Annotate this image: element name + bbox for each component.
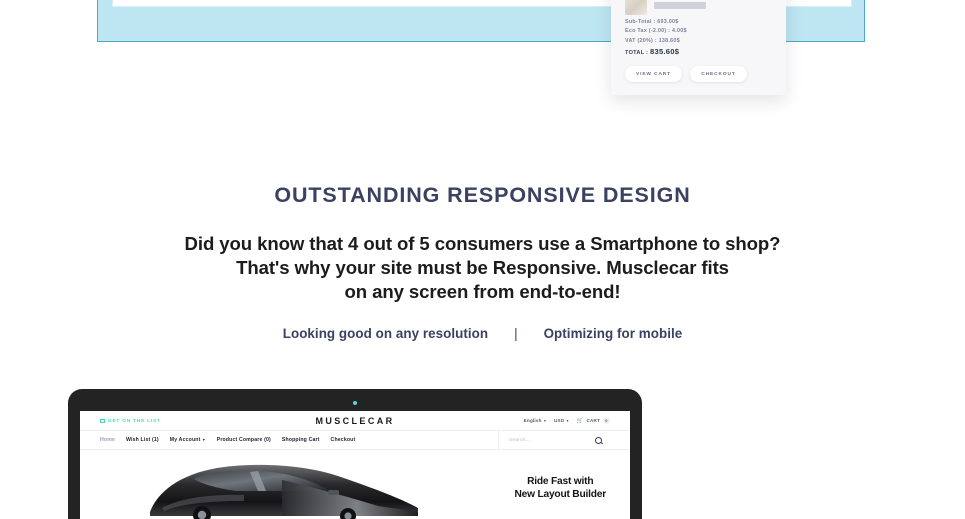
view-cart-button[interactable]: VIEW CART xyxy=(625,66,682,82)
checkout-button[interactable]: CHECKOUT xyxy=(690,66,747,82)
search-icon[interactable] xyxy=(595,437,602,444)
top-section-fragment xyxy=(0,0,965,46)
nav-item-list: Home Wish List (1) My Account▼ Product C… xyxy=(100,437,355,443)
nav-item-home[interactable]: Home xyxy=(100,437,115,443)
cart-grand-total-row: TOTAL : 835.60$ xyxy=(625,47,775,58)
subtitle-line: on any screen from end-to-end! xyxy=(0,280,965,304)
store-utility-bar: GET ON THE LIST MUSCLECAR English▼ USD▼ … xyxy=(80,411,630,430)
muscle-car-image xyxy=(132,456,432,519)
subtitle-line: Did you know that 4 out of 5 consumers u… xyxy=(0,232,965,256)
section-links: Looking good on any resolution | Optimiz… xyxy=(0,326,965,341)
product-thumbnail xyxy=(625,0,647,15)
chevron-down-icon: ▼ xyxy=(202,438,206,442)
links-separator: | xyxy=(514,326,518,341)
cart-total-label: VAT (20%) : xyxy=(625,38,657,44)
section-subtitle: Did you know that 4 out of 5 consumers u… xyxy=(0,232,965,304)
nav-item-product-compare[interactable]: Product Compare (0) xyxy=(217,437,271,443)
cart-actions: VIEW CART CHECKOUT xyxy=(625,66,747,82)
cart-total-amount: 693.00$ xyxy=(657,19,678,25)
link-optimizing-for-mobile[interactable]: Optimizing for mobile xyxy=(544,326,683,341)
hero-headline: Ride Fast with New Layout Builder xyxy=(515,476,607,501)
product-title-placeholder xyxy=(654,2,706,9)
cart-grand-total-label: TOTAL : xyxy=(625,50,648,56)
search-box[interactable]: Search... xyxy=(498,430,610,450)
nav-item-shopping-cart[interactable]: Shopping Cart xyxy=(282,437,320,443)
hero-headline-line: Ride Fast with xyxy=(515,476,607,489)
cart-total-amount: 138.60$ xyxy=(659,38,680,44)
nav-item-checkout[interactable]: Checkout xyxy=(331,437,356,443)
cart-total-row: Eco Tax (-2.00) : 4.00$ xyxy=(625,27,775,36)
laptop-screen: GET ON THE LIST MUSCLECAR English▼ USD▼ … xyxy=(80,411,630,519)
link-looking-good-any-resolution[interactable]: Looking good on any resolution xyxy=(283,326,488,341)
section-title: OUTSTANDING RESPONSIVE DESIGN xyxy=(0,180,965,210)
nav-item-my-account[interactable]: My Account▼ xyxy=(170,437,206,443)
store-hero-banner: Ride Fast with New Layout Builder xyxy=(80,450,630,519)
cart-total-row: VAT (20%) : 138.60$ xyxy=(625,37,775,46)
search-input-placeholder[interactable]: Search... xyxy=(509,438,530,443)
hero-headline-line: New Layout Builder xyxy=(515,489,607,502)
cart-totals: Sub-Total : 693.00$ Eco Tax (-2.00) : 4.… xyxy=(625,18,775,59)
nav-item-my-account-label: My Account xyxy=(170,437,201,443)
cart-grand-total-amount: 835.60$ xyxy=(650,47,679,56)
cart-total-amount: 4.00$ xyxy=(672,28,687,34)
responsive-design-section: OUTSTANDING RESPONSIVE DESIGN Did you kn… xyxy=(0,180,965,341)
cart-dropdown[interactable]: Sub-Total : 693.00$ Eco Tax (-2.00) : 4.… xyxy=(611,0,786,95)
cart-product-item[interactable] xyxy=(625,0,706,18)
nav-item-wish-list[interactable]: Wish List (1) xyxy=(126,437,159,443)
subtitle-line: That's why your site must be Responsive.… xyxy=(0,256,965,280)
webcam-icon xyxy=(353,401,357,405)
cart-total-label: Sub-Total : xyxy=(625,19,656,25)
store-logo[interactable]: MUSCLECAR xyxy=(80,416,630,426)
store-main-nav: Home Wish List (1) My Account▼ Product C… xyxy=(80,430,630,450)
cart-total-row: Sub-Total : 693.00$ xyxy=(625,18,775,27)
cart-total-label: Eco Tax (-2.00) : xyxy=(625,28,670,34)
